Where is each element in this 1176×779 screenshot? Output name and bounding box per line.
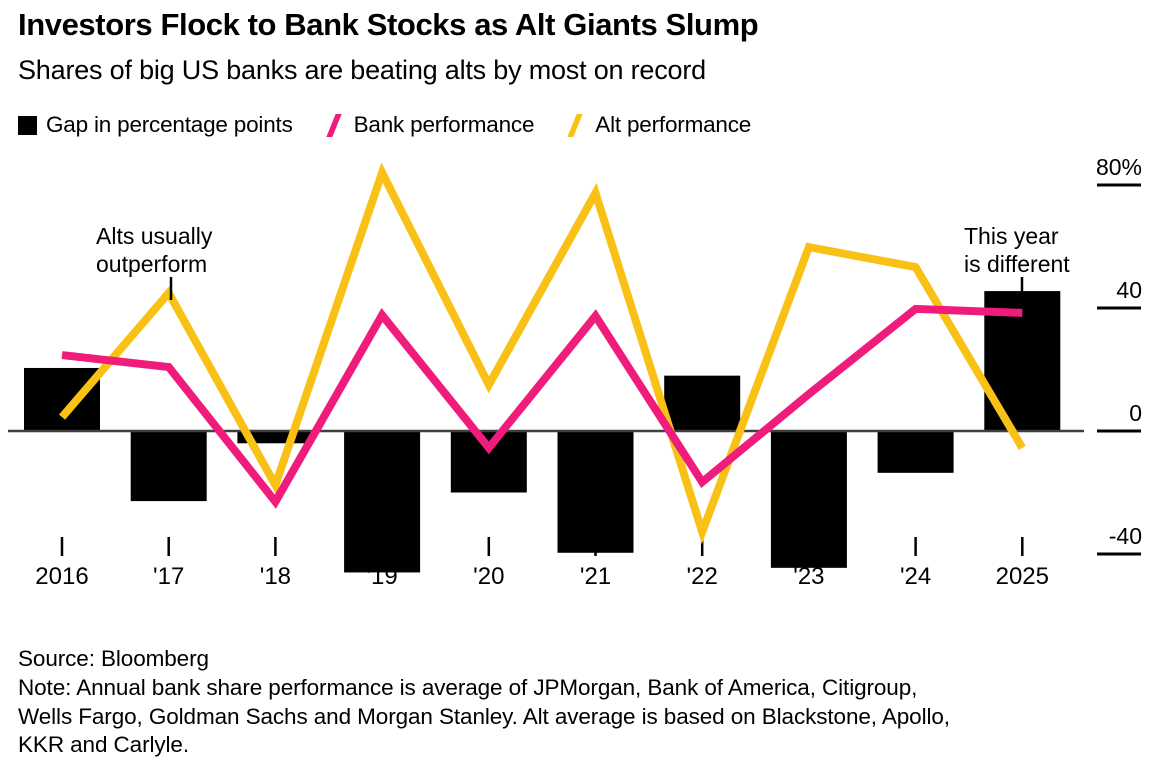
bar-19 <box>344 431 420 572</box>
chart-page: Investors Flock to Bank Stocks as Alt Gi… <box>0 0 1176 779</box>
bank-performance-line <box>62 309 1022 502</box>
page-subtitle: Shares of big US banks are beating alts … <box>18 56 706 86</box>
bar-2016 <box>24 368 100 431</box>
x-axis-label-2016: 2016 <box>35 563 88 591</box>
legend-slash-yellow-icon <box>564 115 586 136</box>
annotation-leader-lines <box>171 277 1022 300</box>
annotation-left-line1: Alts usually <box>96 222 212 250</box>
x-axis-label-23: '23 <box>793 563 824 591</box>
footer-source: Source: Bloomberg <box>18 645 1148 674</box>
annotation-left-line2: outperform <box>96 250 212 278</box>
x-tick-marks <box>62 537 1022 556</box>
annotation-this-year-different: This year is different <box>964 222 1070 278</box>
bar-22 <box>664 376 740 431</box>
x-axis-label-22: '22 <box>687 563 718 591</box>
bars-group <box>24 291 1060 572</box>
annotation-right-line1: This year <box>964 222 1070 250</box>
chart-footer: Source: Bloomberg Note: Annual bank shar… <box>18 645 1148 760</box>
y-axis-label--40: -40 <box>1090 523 1142 550</box>
legend-square-icon <box>18 116 37 135</box>
legend-label-alt: Alt performance <box>595 112 751 138</box>
legend-label-gap: Gap in percentage points <box>46 112 293 138</box>
annotation-right-line2: is different <box>964 250 1070 278</box>
x-axis-label-21: '21 <box>580 563 611 591</box>
bar-20 <box>451 431 527 493</box>
y-axis-label-0: 0 <box>1090 400 1142 427</box>
bar-24 <box>878 431 954 473</box>
footer-note-line2: Wells Fargo, Goldman Sachs and Morgan St… <box>18 703 1148 732</box>
bar-21 <box>558 431 634 553</box>
y-axis-label-40: 40 <box>1090 277 1142 304</box>
footer-note-line3: KKR and Carlyle. <box>18 731 1148 760</box>
bar-2025 <box>984 291 1060 431</box>
x-axis-label-24: '24 <box>900 563 931 591</box>
bar-18 <box>237 431 313 443</box>
x-axis-label-19: '19 <box>366 563 397 591</box>
legend-item-bank: Bank performance <box>323 112 535 138</box>
legend-item-gap: Gap in percentage points <box>18 112 293 138</box>
x-axis-label-18: '18 <box>260 563 291 591</box>
legend-slash-pink-icon <box>323 115 345 136</box>
alt-performance-polyline <box>62 309 1022 502</box>
legend-label-bank: Bank performance <box>354 112 535 138</box>
legend-item-alt: Alt performance <box>564 112 751 138</box>
y-axis-label-80: 80% <box>1090 154 1142 181</box>
annotation-alts-outperform: Alts usually outperform <box>96 222 212 278</box>
footer-note-line1: Note: Annual bank share performance is a… <box>18 674 1148 703</box>
bar-23 <box>771 431 847 568</box>
y-tick-marks <box>1097 185 1141 554</box>
chart-legend: Gap in percentage points Bank performanc… <box>18 112 781 138</box>
bar-17 <box>131 431 207 501</box>
x-axis-label-17: '17 <box>153 563 184 591</box>
x-axis-label-2025: 2025 <box>996 563 1049 591</box>
x-axis-label-20: '20 <box>473 563 504 591</box>
page-title: Investors Flock to Bank Stocks as Alt Gi… <box>18 8 758 42</box>
